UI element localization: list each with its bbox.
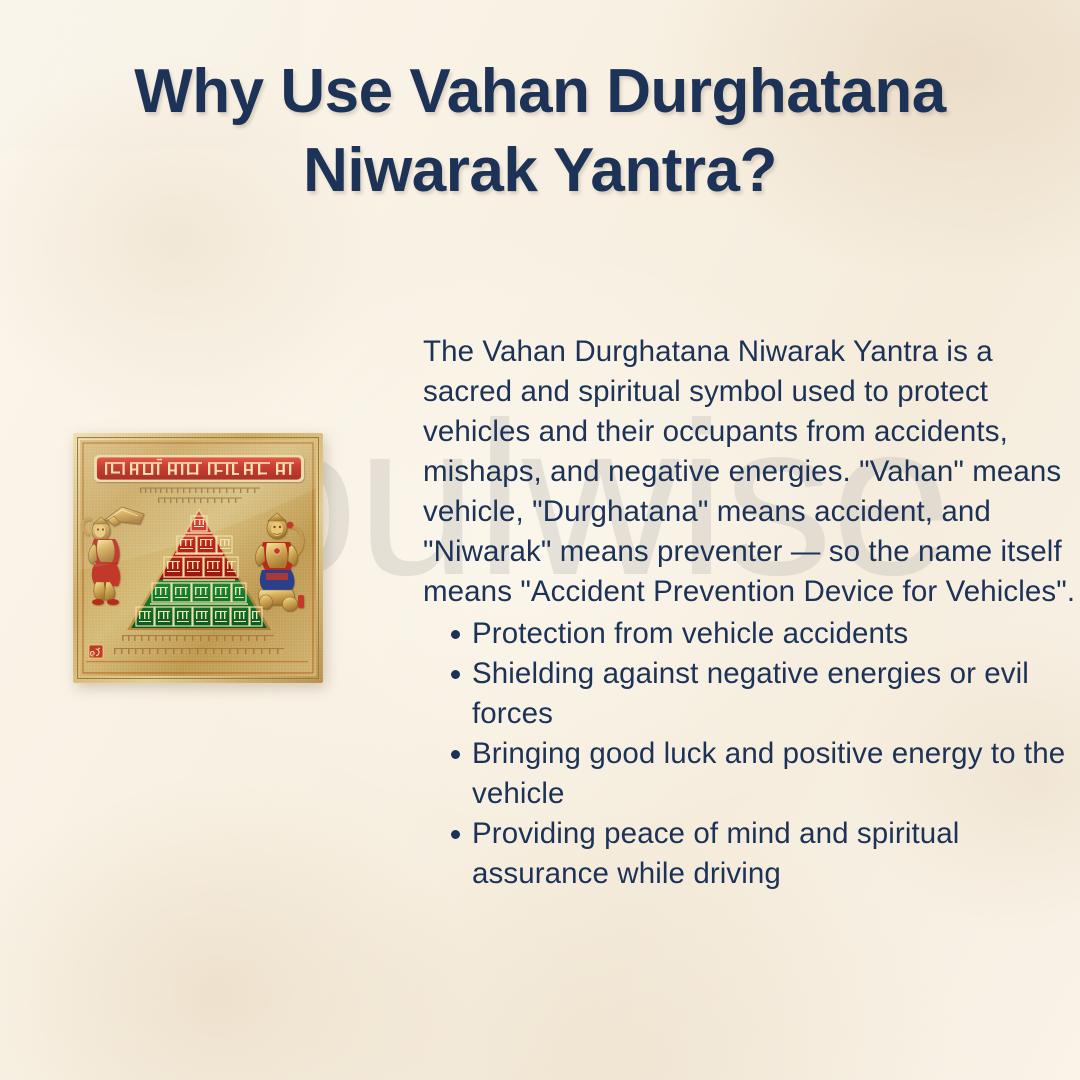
list-item: Shielding against negative energies or e…: [423, 654, 1080, 734]
yantra-product-image: [70, 430, 328, 688]
om-badge: [89, 645, 103, 658]
bullet-dot-icon: [451, 630, 460, 639]
list-item: Providing peace of mind and spiritual as…: [423, 814, 1080, 894]
list-item: Protection from vehicle accidents: [423, 614, 1080, 654]
bullet-dot-icon: [451, 750, 460, 759]
page-title: Why Use Vahan Durghatana Niwarak Yantra?: [90, 52, 990, 211]
page-title-line-1: Why Use Vahan Durghatana: [90, 52, 990, 131]
intro-paragraph: The Vahan Durghatana Niwarak Yantra is a…: [423, 332, 1080, 612]
benefits-list: Protection from vehicle accidents Shield…: [423, 614, 1080, 894]
list-item-label: Providing peace of mind and spiritual as…: [472, 817, 959, 890]
poster-canvas: soulwise Why Use Vahan Durghatana Niwara…: [0, 0, 1080, 1080]
list-item-label: Bringing good luck and positive energy t…: [472, 737, 1065, 810]
list-item: Bringing good luck and positive energy t…: [423, 734, 1080, 814]
bullet-dot-icon: [451, 830, 460, 839]
list-item-label: Shielding against negative energies or e…: [472, 657, 1029, 730]
page-title-line-2: Niwarak Yantra?: [90, 131, 990, 210]
bullet-dot-icon: [451, 670, 460, 679]
list-item-label: Protection from vehicle accidents: [472, 617, 908, 650]
content-column: The Vahan Durghatana Niwarak Yantra is a…: [423, 332, 1080, 894]
yantra-illustration: [70, 430, 328, 688]
